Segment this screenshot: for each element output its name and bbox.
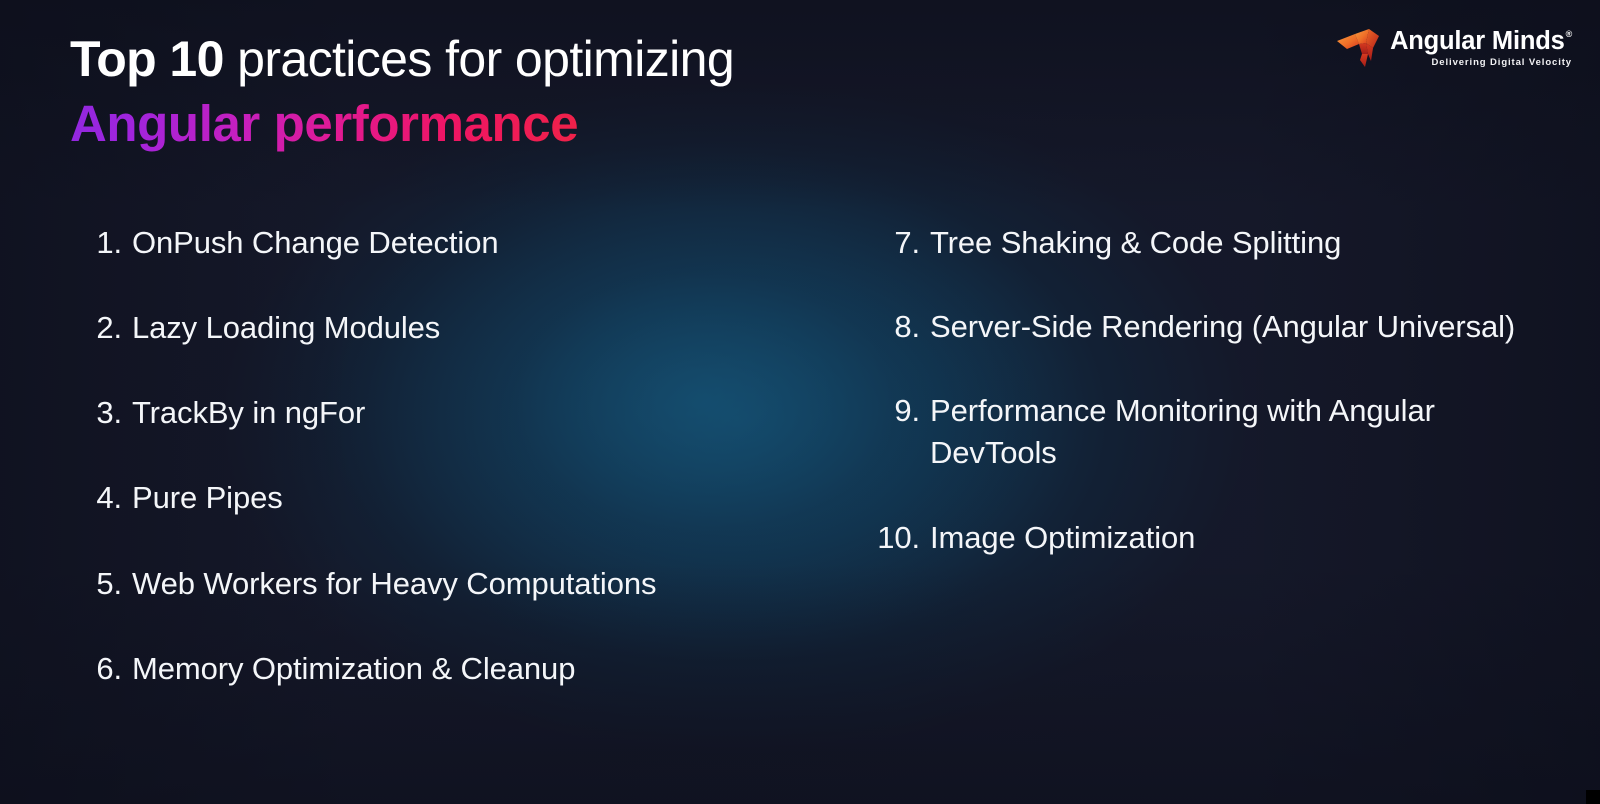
list-item-number: 2.	[78, 307, 132, 349]
list-item-number: 1.	[78, 222, 132, 264]
list-item-number: 7.	[876, 222, 930, 264]
slide-headline: Top 10 practices for optimizing Angular …	[70, 30, 1250, 153]
list-item-number: 4.	[78, 477, 132, 519]
list-item-number: 9.	[876, 390, 930, 432]
list-item: 7. Tree Shaking & Code Splitting	[876, 222, 1600, 264]
angular-minds-logo[interactable]: Angular Minds ® Delivering Digital Veloc…	[1335, 27, 1572, 69]
list-item: 5. Web Workers for Heavy Computations	[78, 563, 800, 605]
logo-tagline: Delivering Digital Velocity	[1390, 58, 1572, 68]
logo-text-block: Angular Minds ® Delivering Digital Veloc…	[1390, 29, 1572, 67]
registered-trademark-icon: ®	[1566, 30, 1572, 39]
list-item-label: Pure Pipes	[132, 477, 772, 519]
corner-clip-mark	[1586, 790, 1600, 804]
list-item-label: Server-Side Rendering (Angular Universal…	[930, 306, 1570, 348]
headline-line-one-rest: practices for optimizing	[224, 31, 734, 87]
list-item: 4. Pure Pipes	[78, 477, 800, 519]
headline-line-one: Top 10 practices for optimizing	[70, 30, 1250, 88]
list-item: 6. Memory Optimization & Cleanup	[78, 648, 800, 690]
logo-wordmark: Angular Minds ®	[1390, 29, 1572, 55]
logo-company-name: Angular Minds	[1390, 29, 1564, 55]
list-item-label: Tree Shaking & Code Splitting	[930, 222, 1570, 264]
list-item: 3. TrackBy in ngFor	[78, 392, 800, 434]
practices-column-right: 7. Tree Shaking & Code Splitting 8. Serv…	[800, 222, 1600, 690]
list-item-label: OnPush Change Detection	[132, 222, 772, 264]
practices-column-left: 1. OnPush Change Detection 2. Lazy Loadi…	[0, 222, 800, 690]
list-item-label: Performance Monitoring with Angular DevT…	[930, 390, 1570, 474]
headline-emphasis: Top 10	[70, 31, 224, 87]
list-item-label: TrackBy in ngFor	[132, 392, 772, 434]
list-item-label: Web Workers for Heavy Computations	[132, 563, 772, 605]
angular-minds-arrow-mark-icon	[1335, 27, 1381, 69]
list-item: 9. Performance Monitoring with Angular D…	[876, 390, 1600, 474]
list-item-number: 8.	[876, 306, 930, 348]
list-item: 8. Server-Side Rendering (Angular Univer…	[876, 306, 1600, 348]
practices-list: 1. OnPush Change Detection 2. Lazy Loadi…	[0, 222, 1600, 690]
list-item-number: 6.	[78, 648, 132, 690]
list-item-label: Lazy Loading Modules	[132, 307, 772, 349]
list-item-label: Image Optimization	[930, 517, 1570, 559]
slide-content: Angular Minds ® Delivering Digital Veloc…	[0, 0, 1600, 804]
presentation-slide: Angular Minds ® Delivering Digital Veloc…	[0, 0, 1600, 804]
list-item-number: 5.	[78, 563, 132, 605]
list-item: 2. Lazy Loading Modules	[78, 307, 800, 349]
list-item: 10. Image Optimization	[876, 517, 1600, 559]
list-item-number: 3.	[78, 392, 132, 434]
list-item-number: 10.	[876, 517, 930, 559]
list-item-label: Memory Optimization & Cleanup	[132, 648, 772, 690]
headline-line-two-gradient: Angular performance	[70, 94, 578, 153]
list-item: 1. OnPush Change Detection	[78, 222, 800, 264]
